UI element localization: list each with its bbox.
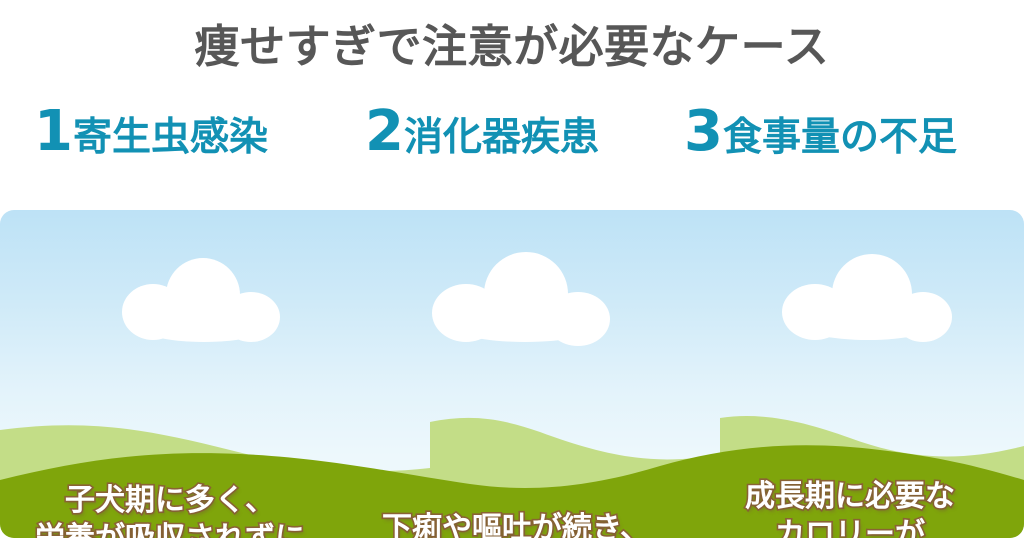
caption-2-line-1: 下痢や嘔吐が続き、 (336, 510, 696, 538)
item-number-2: 2 (365, 104, 403, 160)
item-label-2: 消化器疾患 (404, 118, 599, 157)
cloud-icon-right (776, 254, 964, 334)
caption-3-line-1: 成長期に必要な (676, 478, 1024, 516)
item-number-1: 1 (34, 104, 72, 160)
caption-1: 子犬期に多く、 栄養が吸収されずに 痩せることがある (0, 482, 340, 538)
cloud-icon-left (118, 258, 298, 336)
item-label-1: 寄生虫感染 (73, 118, 268, 157)
caption-1-line-2: 栄養が吸収されずに (0, 520, 340, 538)
page-title: 痩せすぎで注意が必要なケース (0, 22, 1024, 72)
numbered-item-2: 2 消化器疾患 (365, 104, 599, 160)
item-label-3: 食事量の不足 (723, 118, 957, 157)
cloud-icon-middle (430, 252, 626, 336)
caption-3: 成長期に必要な カロリーが 足りていない (676, 478, 1024, 538)
numbered-item-1: 1 寄生虫感染 (34, 104, 268, 160)
caption-2: 下痢や嘔吐が続き、 体重が減少している (336, 510, 696, 538)
item-number-3: 3 (684, 104, 722, 160)
illustration-panel: 子犬期に多く、 栄養が吸収されずに 痩せることがある 下痢や嘔吐が続き、 体重が… (0, 210, 1024, 538)
numbered-items-row: 1 寄生虫感染 2 消化器疾患 3 食事量の不足 (0, 104, 1024, 174)
caption-3-line-2: カロリーが (676, 516, 1024, 538)
infographic-root: 痩せすぎで注意が必要なケース 1 寄生虫感染 2 消化器疾患 3 食事量の不足 (0, 0, 1024, 538)
caption-1-line-1: 子犬期に多く、 (0, 482, 340, 520)
numbered-item-3: 3 食事量の不足 (684, 104, 957, 160)
